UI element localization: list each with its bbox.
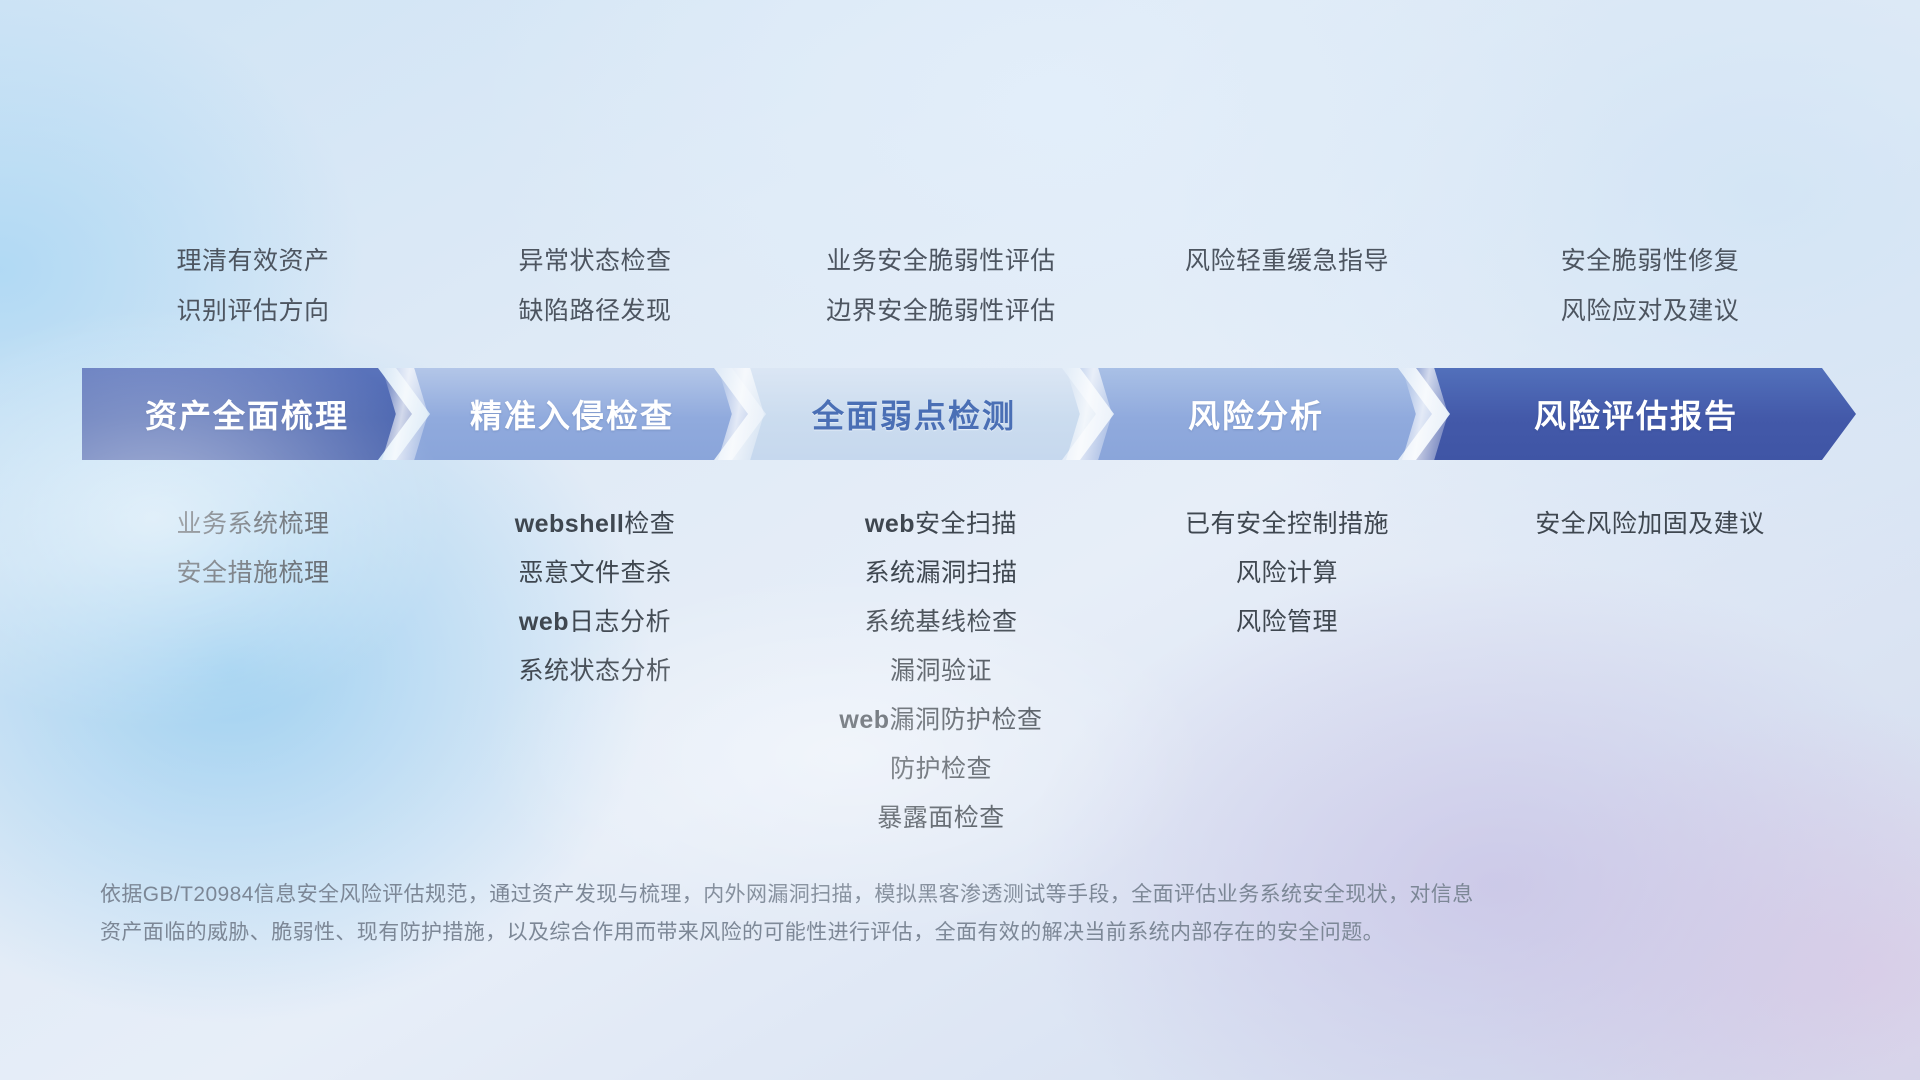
top-label: 风险应对及建议	[1458, 286, 1842, 336]
stage-label: 风险分析	[1188, 391, 1324, 437]
list-item: 防护检查	[766, 745, 1116, 794]
top-label: 缺陷路径发现	[424, 286, 766, 336]
footer-line: 资产面临的威胁、脆弱性、现有防护措施，以及综合作用而带来风险的可能性进行评估，全…	[100, 914, 1720, 952]
bottom-list-intrusion: webshell检查 恶意文件查杀 web日志分析 系统状态分析	[424, 500, 766, 843]
slide-canvas: 理清有效资产 识别评估方向 异常状态检查 缺陷路径发现 业务安全脆弱性评估 边界…	[0, 0, 1920, 1080]
list-item: webshell检查	[424, 500, 766, 549]
list-item: 漏洞验证	[766, 647, 1116, 696]
bottom-list-report: 安全风险加固及建议	[1458, 500, 1842, 843]
stage-chevron-asset[interactable]: 资产全面梳理	[82, 368, 412, 460]
top-label: 边界安全脆弱性评估	[766, 286, 1116, 336]
list-item: 业务系统梳理	[82, 500, 424, 549]
bottom-list-weakness: web安全扫描 系统漏洞扫描 系统基线检查 漏洞验证 web漏洞防护检查 防护检…	[766, 500, 1116, 843]
top-labels-asset: 理清有效资产 识别评估方向	[82, 236, 424, 336]
list-item: 风险计算	[1116, 549, 1458, 598]
list-item: 系统状态分析	[424, 647, 766, 696]
stage-label: 资产全面梳理	[145, 391, 349, 437]
bottom-lists-row: 业务系统梳理 安全措施梳理 webshell检查 恶意文件查杀 web日志分析 …	[82, 500, 1842, 843]
top-label: 识别评估方向	[82, 286, 424, 336]
stage-label: 精准入侵检查	[470, 391, 674, 437]
list-item: web安全扫描	[766, 500, 1116, 549]
footer-line: 依据GB/T20984信息安全风险评估规范，通过资产发现与梳理，内外网漏洞扫描，…	[100, 876, 1720, 914]
top-label: 理清有效资产	[82, 236, 424, 286]
list-item: web日志分析	[424, 598, 766, 647]
stage-chevron-report[interactable]: 风险评估报告	[1416, 368, 1856, 460]
top-label: 安全脆弱性修复	[1458, 236, 1842, 286]
top-label: 风险轻重缓急指导	[1116, 236, 1458, 286]
process-chevron-band: 资产全面梳理 精准入侵检查 全面弱点检测 风险分析 风险评估报告	[82, 368, 1857, 460]
list-item: 恶意文件查杀	[424, 549, 766, 598]
top-labels-weakness: 业务安全脆弱性评估 边界安全脆弱性评估	[766, 236, 1116, 336]
top-labels-risk-analysis: 风险轻重缓急指导	[1116, 236, 1458, 336]
stage-chevron-weakness[interactable]: 全面弱点检测	[732, 368, 1096, 460]
list-item: 安全风险加固及建议	[1458, 500, 1842, 549]
list-item: 系统漏洞扫描	[766, 549, 1116, 598]
bottom-list-risk-analysis: 已有安全控制措施 风险计算 风险管理	[1116, 500, 1458, 843]
list-item: 安全措施梳理	[82, 549, 424, 598]
list-item: 暴露面检查	[766, 794, 1116, 843]
list-item: web漏洞防护检查	[766, 696, 1116, 745]
list-item: 已有安全控制措施	[1116, 500, 1458, 549]
top-labels-intrusion: 异常状态检查 缺陷路径发现	[424, 236, 766, 336]
bottom-list-asset: 业务系统梳理 安全措施梳理	[82, 500, 424, 843]
top-labels-report: 安全脆弱性修复 风险应对及建议	[1458, 236, 1842, 336]
top-label: 异常状态检查	[424, 236, 766, 286]
stage-chevron-risk-analysis[interactable]: 风险分析	[1080, 368, 1432, 460]
top-labels-row: 理清有效资产 识别评估方向 异常状态检查 缺陷路径发现 业务安全脆弱性评估 边界…	[82, 236, 1842, 336]
stage-label: 全面弱点检测	[812, 391, 1016, 437]
stage-chevron-intrusion[interactable]: 精准入侵检查	[396, 368, 748, 460]
footer-description: 依据GB/T20984信息安全风险评估规范，通过资产发现与梳理，内外网漏洞扫描，…	[100, 876, 1720, 952]
top-label: 业务安全脆弱性评估	[766, 236, 1116, 286]
list-item: 系统基线检查	[766, 598, 1116, 647]
stage-label: 风险评估报告	[1534, 391, 1738, 437]
list-item: 风险管理	[1116, 598, 1458, 647]
